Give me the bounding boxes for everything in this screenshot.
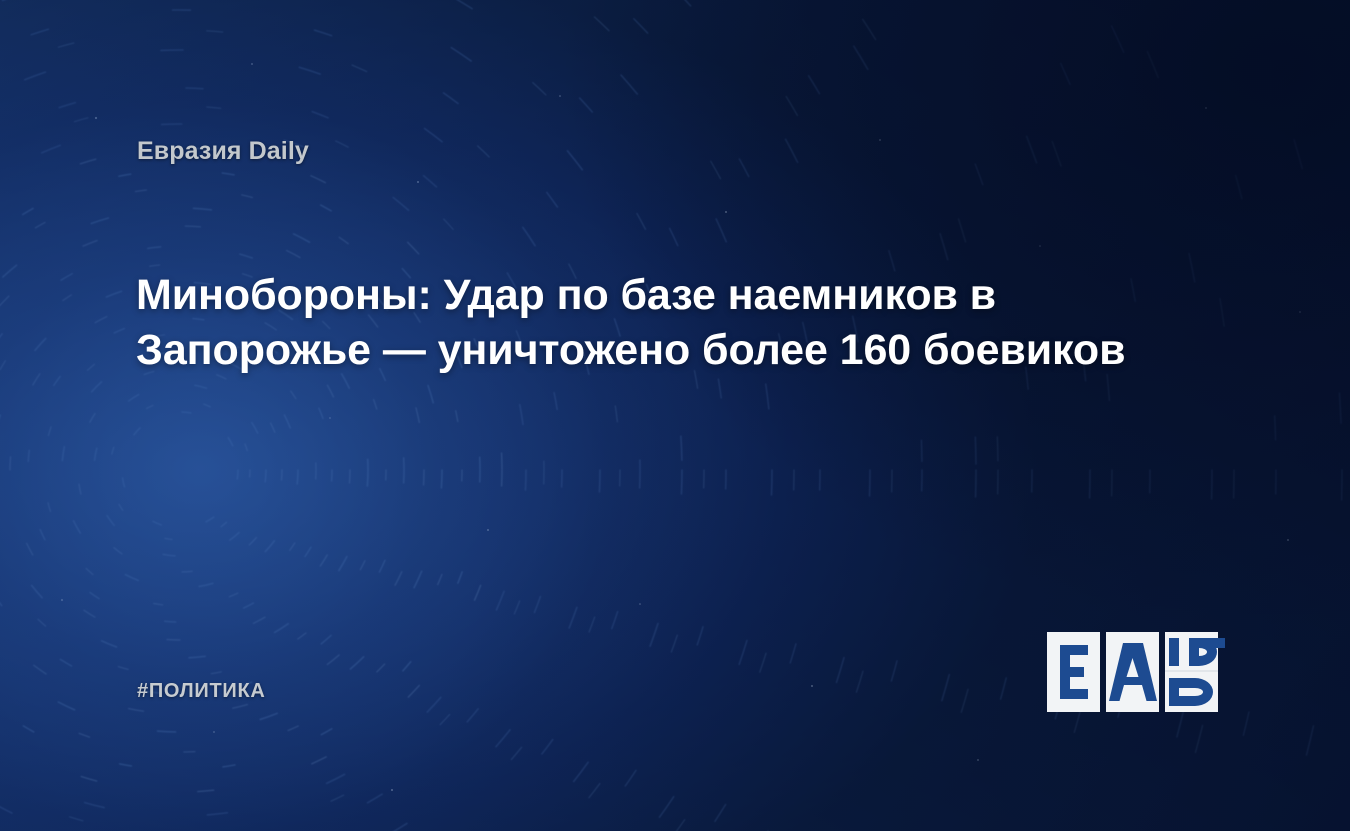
page-title: Минобороны: Удар по базе наемников в Зап… <box>136 268 1186 377</box>
category-tag[interactable]: #ПОЛИТИКА <box>137 680 266 703</box>
card-content: Евразия Daily Минобороны: Удар по базе н… <box>0 0 1350 831</box>
logo-seam <box>1165 670 1218 672</box>
eadaily-logo-mark <box>1047 632 1227 720</box>
logo-letter-e <box>1060 645 1088 699</box>
brand-name: Евразия Daily <box>137 137 309 166</box>
eadaily-logo[interactable] <box>1047 632 1227 720</box>
